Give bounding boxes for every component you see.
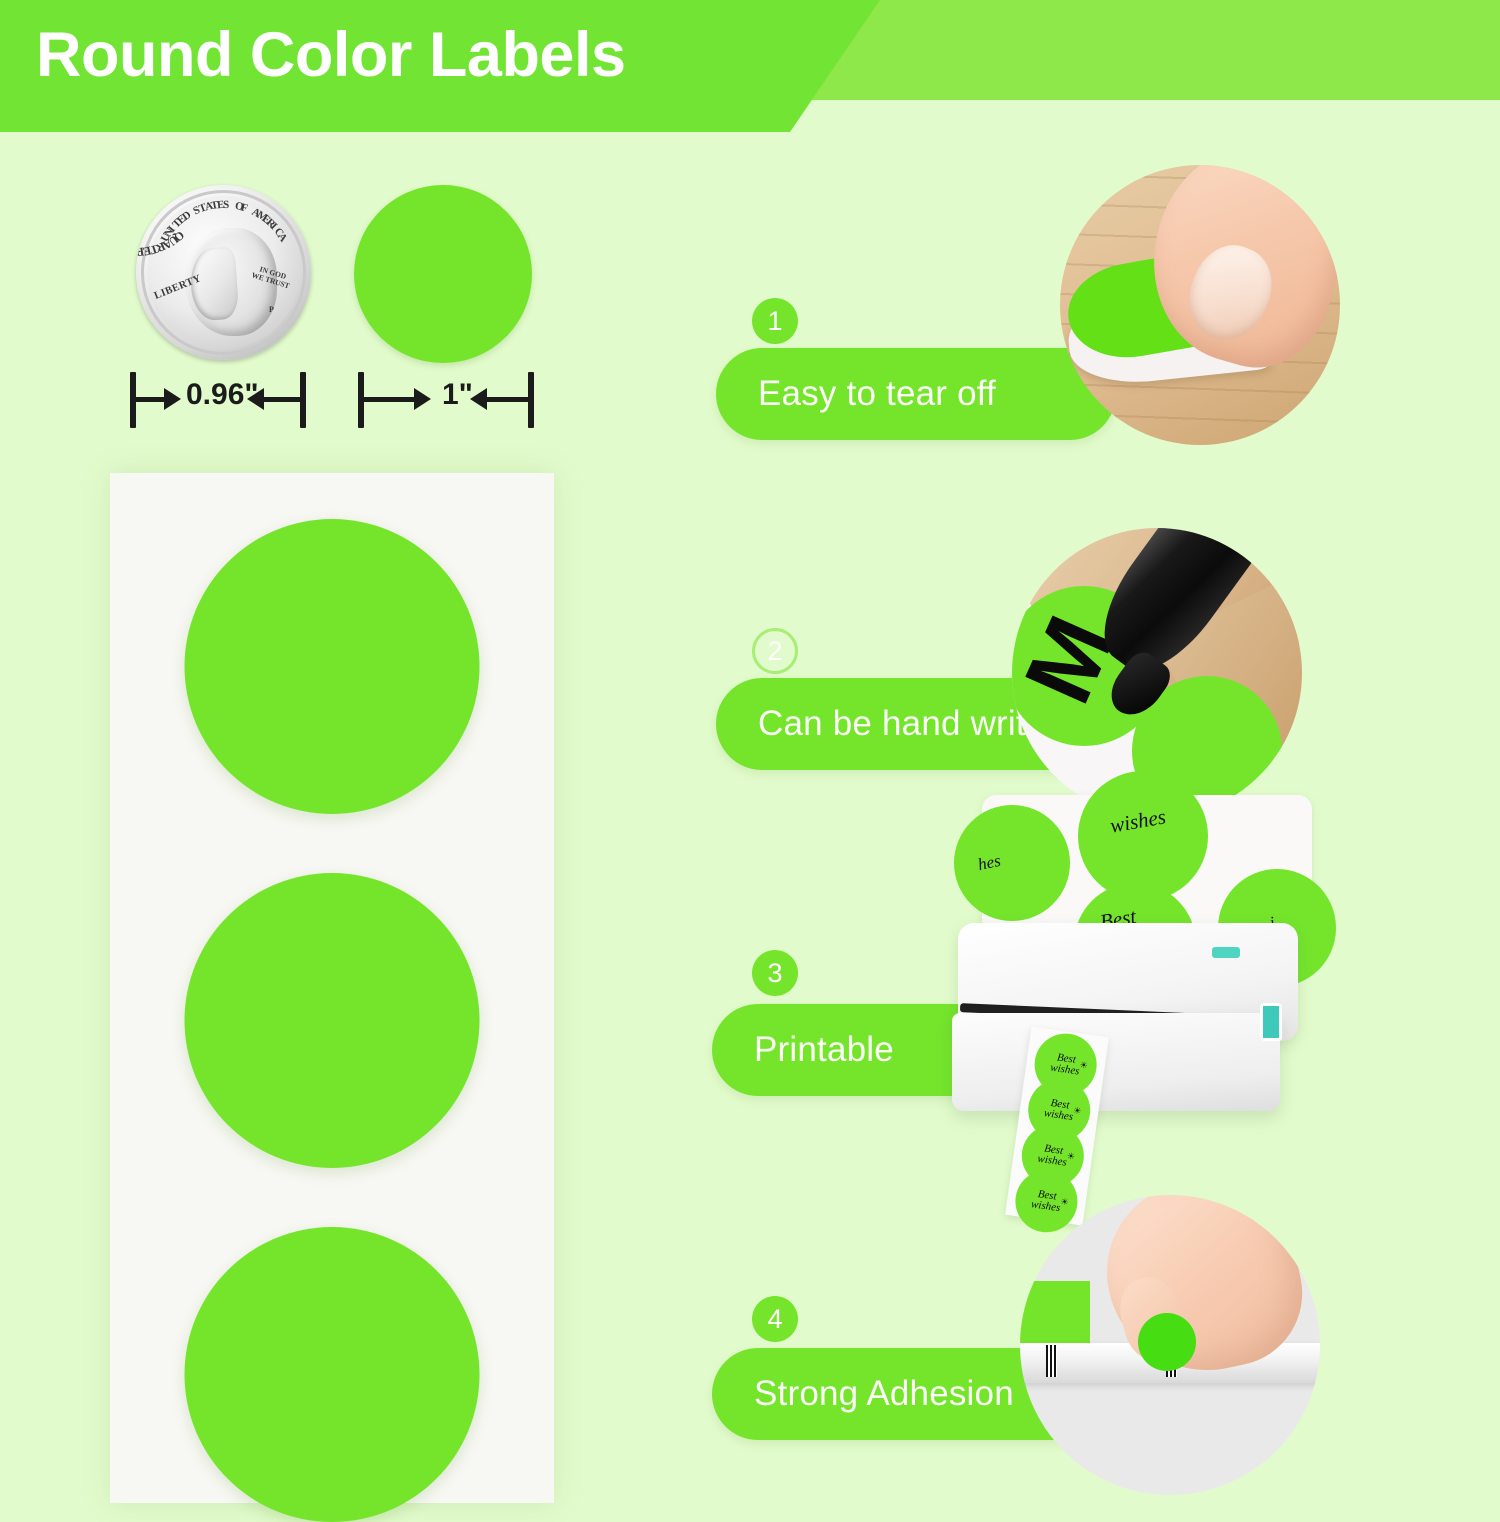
feature-pill-1: Easy to tear off <box>716 348 1116 440</box>
dim-arrow-right <box>164 388 181 410</box>
dim-arrow-left <box>470 388 487 410</box>
printed-label-circle <box>954 805 1070 921</box>
dim-rule-left <box>364 397 416 402</box>
feature-number-badge-2: 2 <box>752 628 798 674</box>
sun-icon: ☀ <box>1079 1060 1089 1072</box>
printer-base <box>952 1013 1280 1111</box>
sun-icon: ☀ <box>1066 1151 1076 1163</box>
dim-rule-left <box>136 397 166 402</box>
printed-label-circle <box>1078 771 1208 901</box>
feature-number-badge-1: 1 <box>752 298 798 344</box>
sheet-label-circle <box>185 519 480 814</box>
label-line-2: wishes <box>1043 1108 1074 1123</box>
sheet-label-circle <box>185 873 480 1168</box>
us-quarter-coin: UNITED STATES OF AMERICA QUARTER DOLLAR … <box>136 185 311 360</box>
dimension-label-label: 1" <box>442 378 473 412</box>
feature-number-badge-4: 4 <box>752 1296 798 1342</box>
dim-arrow-left <box>247 388 264 410</box>
dimension-line-coin: 0.96" <box>130 372 306 428</box>
feature-label-1: Easy to tear off <box>716 374 996 414</box>
tube-band <box>1046 1345 1057 1377</box>
dimension-line-label: 1" <box>358 372 534 428</box>
sun-icon: ☀ <box>1072 1105 1082 1117</box>
feature-label-3: Printable <box>712 1030 894 1070</box>
label-sheet-strip <box>110 473 554 1503</box>
feature-number-badge-3: 3 <box>752 950 798 996</box>
printer-status-led <box>1212 947 1240 958</box>
coin-mint-mark: P <box>269 305 274 314</box>
sheet-label-circle <box>185 1227 480 1522</box>
dim-rule-right <box>487 397 530 402</box>
photo-strong-adhesion <box>1020 1195 1320 1495</box>
photo-printable-printer: hes wishes Best i Best wishes ☀ Best wis… <box>930 795 1350 1215</box>
dim-arrow-right <box>414 388 431 410</box>
applied-green-label <box>1138 1313 1196 1371</box>
label-line-2: wishes <box>1050 1063 1081 1078</box>
page-title: Round Color Labels <box>36 24 626 87</box>
printer-side-port <box>1260 1003 1282 1041</box>
feature-label-4: Strong Adhesion <box>712 1374 1014 1414</box>
header-banner: Round Color Labels <box>0 0 1500 132</box>
label-line-2: wishes <box>1037 1154 1068 1169</box>
dim-rule-right <box>264 397 302 402</box>
label-size-swatch <box>354 185 532 363</box>
photo-tear-off <box>1060 165 1340 445</box>
